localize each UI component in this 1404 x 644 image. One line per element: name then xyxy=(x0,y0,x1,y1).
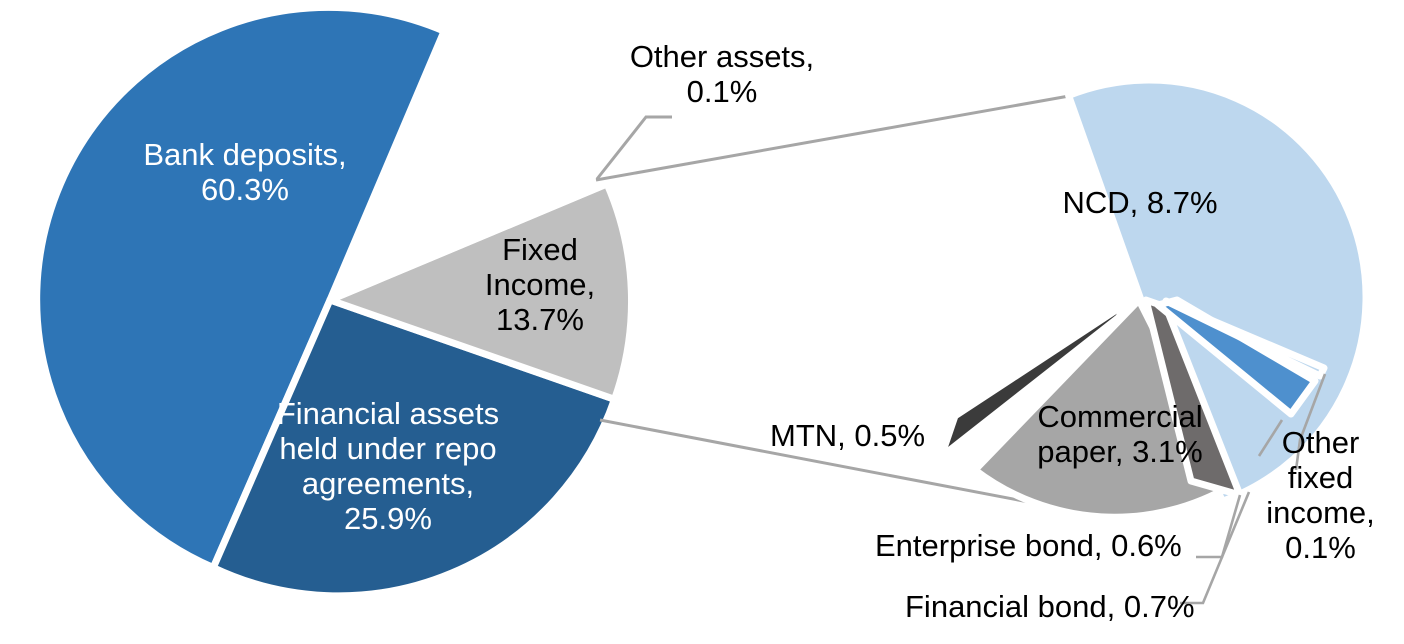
label-commercial-paper: Commercialpaper, 3.1% xyxy=(1010,399,1230,469)
label-repo-agreements: Financial assetsheld under repoagreement… xyxy=(243,396,533,536)
label-other-fixed-income: Otherfixedincome,0.1% xyxy=(1253,425,1388,565)
pie-of-pie-chart: Bank deposits,60.3% Financial assetsheld… xyxy=(0,0,1404,644)
label-financial-bond: Financial bond, 0.7% xyxy=(905,589,1195,624)
label-bank-deposits: Bank deposits,60.3% xyxy=(110,137,380,207)
label-mtn: MTN, 0.5% xyxy=(770,418,925,453)
label-other-assets: Other assets,0.1% xyxy=(602,39,842,109)
leader-line-financial-bond xyxy=(1180,492,1249,603)
label-enterprise-bond: Enterprise bond, 0.6% xyxy=(875,528,1182,563)
label-ncd: NCD, 8.7% xyxy=(1035,185,1245,220)
label-fixed-income: FixedIncome,13.7% xyxy=(460,232,620,337)
leader-line-enterprise-bond xyxy=(1196,495,1240,557)
